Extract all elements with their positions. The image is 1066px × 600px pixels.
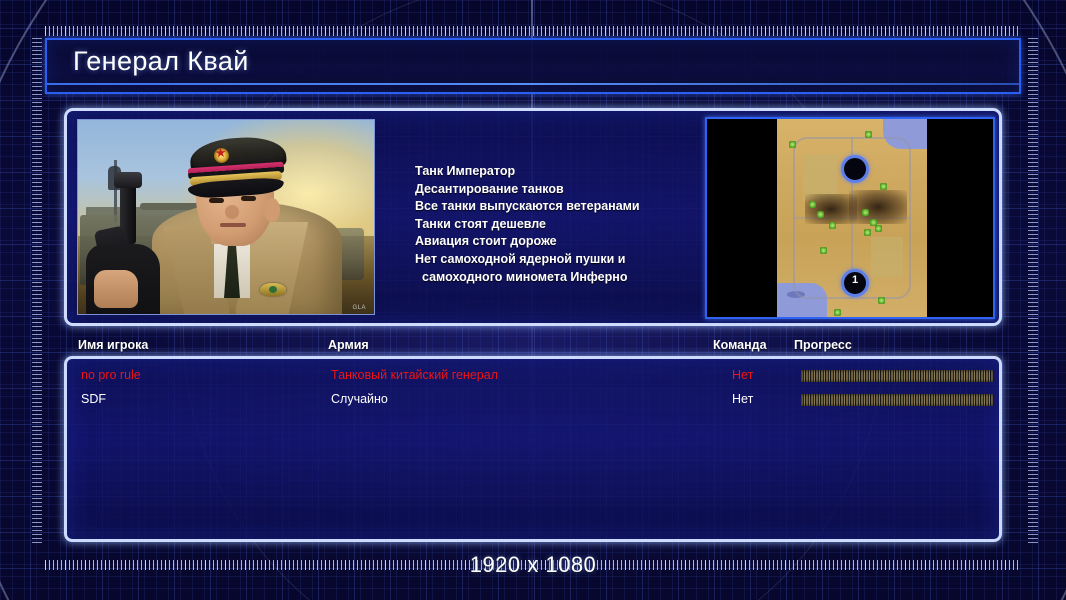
title-panel: Генерал Квай [45, 38, 1021, 94]
header-player-name: Имя игрока [78, 338, 148, 352]
minimap-start-position[interactable] [841, 155, 869, 183]
player-progress-bar [801, 394, 994, 406]
title-divider [47, 83, 1019, 85]
player-army[interactable]: Случайно [331, 392, 388, 406]
description-line: Танк Император [415, 163, 640, 181]
ruler-top [45, 26, 1021, 36]
portrait-caption: GLA [352, 305, 366, 311]
minimap-unit-marker [864, 229, 871, 236]
general-mouth [220, 223, 246, 227]
minimap-preview[interactable]: 1 [705, 117, 995, 319]
player-list-headers: Имя игрока Армия Команда Прогресс [64, 338, 1002, 356]
minimap-scorched-area [849, 190, 907, 224]
player-team[interactable]: Нет [732, 368, 753, 382]
player-army[interactable]: Танковый китайский генерал [331, 368, 498, 382]
table-row[interactable]: no pro rule Танковый китайский генерал Н… [67, 366, 999, 387]
general-hand [94, 270, 138, 308]
header-progress: Прогресс [794, 338, 852, 352]
general-eye-left [209, 198, 224, 203]
player-team[interactable]: Нет [732, 392, 753, 406]
description-line: Авиация стоит дороже [415, 233, 640, 251]
minimap-unit-marker [820, 247, 827, 254]
header-army: Армия [328, 338, 369, 352]
minimap-unit-marker [878, 297, 885, 304]
description-line: Танки стоят дешевле [415, 216, 640, 234]
general-info-panel: GLA Танк Император Десантирование танков… [64, 108, 1002, 326]
player-progress-bar [801, 370, 994, 382]
minimap-unit-marker [809, 201, 816, 208]
general-portrait: GLA [77, 119, 375, 315]
minimap-unit-marker [862, 209, 869, 216]
player-list-panel: no pro rule Танковый китайский генерал Н… [64, 356, 1002, 542]
minimap-unit-marker [789, 141, 796, 148]
description-line: Десантирование танков [415, 181, 640, 199]
resolution-label: 1920 x 1080 [0, 552, 1066, 578]
ruler-left [32, 38, 42, 544]
description-line: Нет самоходной ядерной пушки и [415, 251, 640, 269]
general-description: Танк Император Десантирование танков Все… [415, 163, 640, 286]
description-line: самоходного миномета Инферно [415, 269, 640, 287]
minimap-unit-marker [829, 222, 836, 229]
header-team: Команда [713, 338, 767, 352]
minimap-unit-marker [880, 183, 887, 190]
table-row[interactable]: SDF Случайно Нет [67, 390, 999, 411]
general-ear [264, 198, 280, 222]
player-name: no pro rule [81, 368, 141, 382]
ruler-right [1028, 38, 1038, 544]
minimap-start-position[interactable]: 1 [841, 269, 869, 297]
page-title: Генерал Квай [73, 46, 249, 77]
minimap-unit-marker [875, 225, 882, 232]
general-insignia-badge [260, 283, 286, 296]
minimap-unit-marker [865, 131, 872, 138]
game-lobby-screen: Генерал Квай [0, 0, 1066, 600]
general-eye-right [241, 196, 256, 201]
minimap-unit-marker [834, 309, 841, 316]
description-line: Все танки выпускаются ветеранами [415, 198, 640, 216]
general-nose [225, 205, 239, 219]
player-name: SDF [81, 392, 106, 406]
minimap-unit-marker [817, 211, 824, 218]
minimap-terrain: 1 [777, 119, 927, 317]
pistol-slide [114, 172, 142, 188]
